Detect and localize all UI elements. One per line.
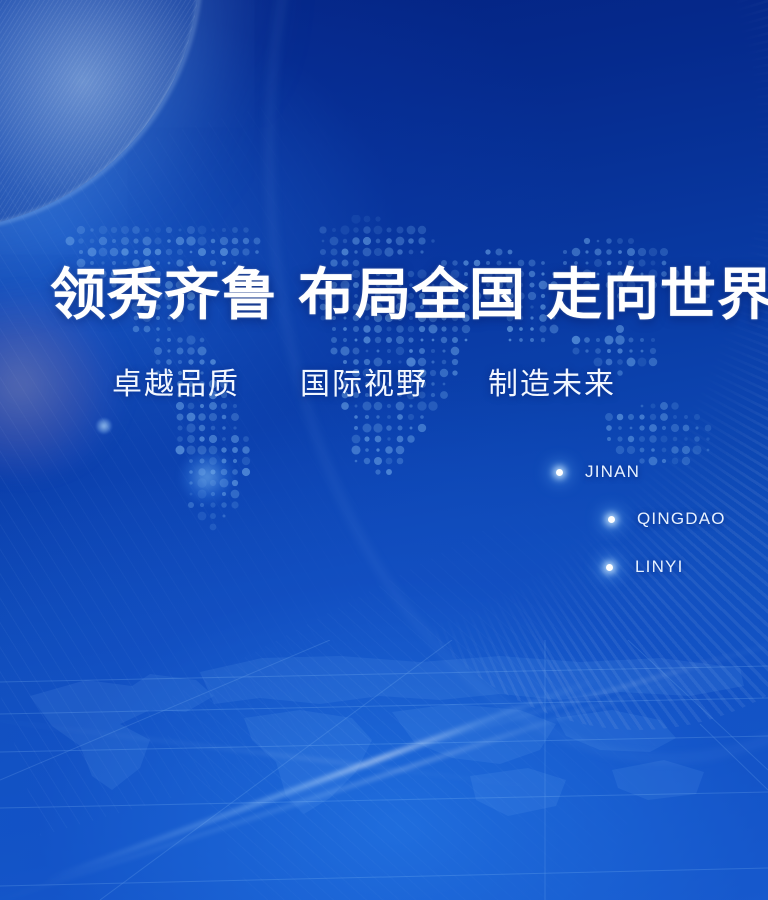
page-title: 领秀齐鲁布局全国走向世界	[50, 268, 768, 324]
city-label: LINYI	[635, 557, 684, 577]
subtitle-part-3: 制造未来	[488, 368, 616, 401]
hero-banner: 领秀齐鲁布局全国走向世界 卓越品质国际视野制造未来 JINAN QINGDAO …	[0, 0, 768, 900]
city-label: JINAN	[585, 462, 640, 482]
headline-part-3: 走向世界	[546, 265, 768, 327]
page-subtitle: 卓越品质国际视野制造未来	[112, 370, 616, 400]
city-label: QINGDAO	[637, 509, 726, 529]
city-marker-qingdao[interactable]: QINGDAO	[608, 509, 726, 529]
subtitle-part-1: 卓越品质	[112, 368, 240, 401]
subtitle-part-2: 国际视野	[300, 368, 428, 401]
banner-content: 领秀齐鲁布局全国走向世界 卓越品质国际视野制造未来 JINAN QINGDAO …	[0, 0, 768, 900]
headline-part-1: 领秀齐鲁	[50, 265, 278, 327]
headline-part-2: 布局全国	[298, 265, 526, 327]
map-pin-dot-icon	[608, 516, 615, 523]
map-pin-dot-icon	[556, 469, 563, 476]
city-marker-jinan[interactable]: JINAN	[556, 462, 640, 482]
map-pin-dot-icon	[606, 564, 613, 571]
city-marker-linyi[interactable]: LINYI	[606, 557, 684, 577]
